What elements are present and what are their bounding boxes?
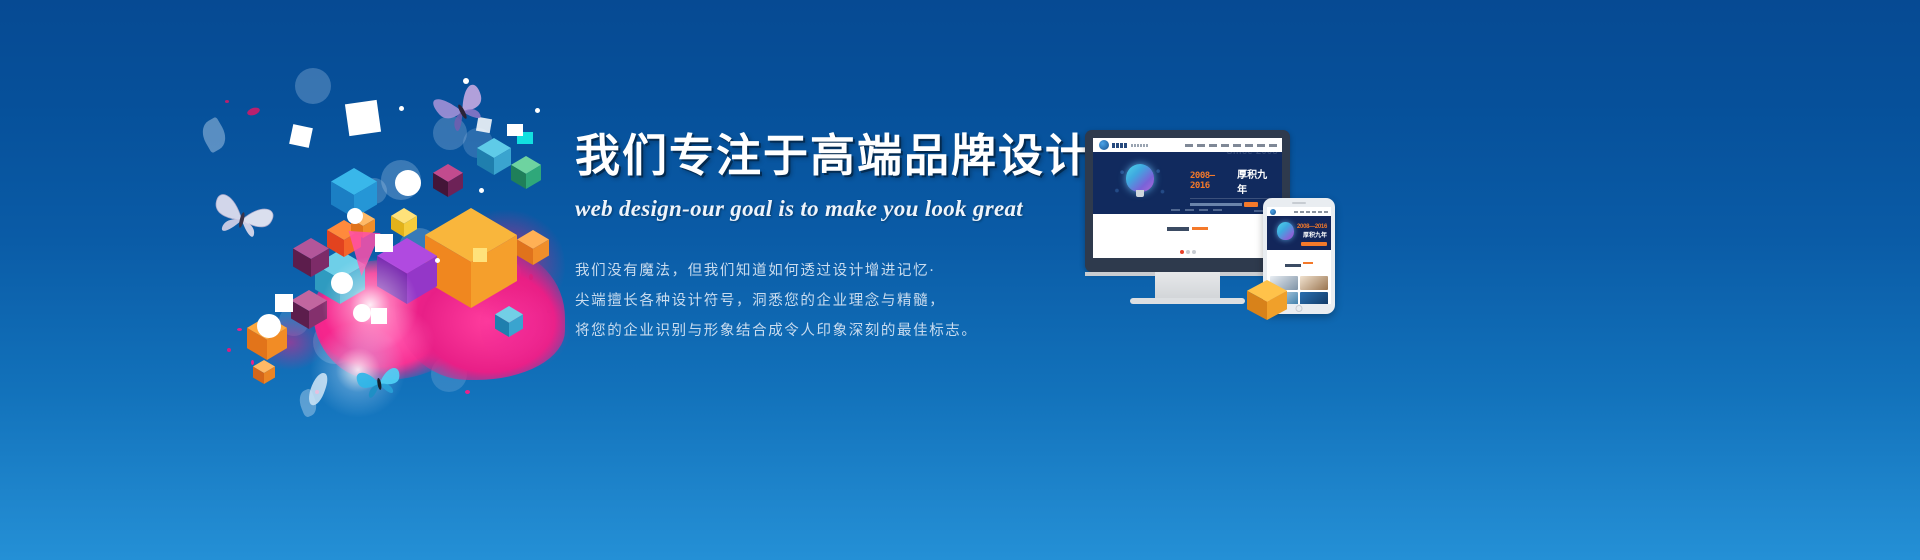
paint-speckle bbox=[227, 348, 231, 352]
section-title bbox=[1093, 214, 1282, 238]
white-circle bbox=[257, 314, 281, 338]
floating-orange-cube bbox=[1247, 280, 1287, 320]
site-logo-icon bbox=[1099, 140, 1109, 150]
phone-logo-icon bbox=[1270, 209, 1276, 215]
site-navbar bbox=[1093, 138, 1282, 152]
feather-shape bbox=[197, 117, 231, 154]
phone-navbar bbox=[1267, 207, 1331, 216]
cyan-cube bbox=[477, 138, 511, 175]
phone-hero-copy: 2008—2016 厚积九年 bbox=[1297, 224, 1327, 246]
hero-since-text: Since 2008 bbox=[1226, 152, 1278, 156]
white-square bbox=[345, 100, 381, 136]
phone-nav-items bbox=[1294, 211, 1328, 213]
white-square bbox=[289, 124, 313, 148]
monitor-stand-foot bbox=[1130, 298, 1245, 304]
paint-speckle bbox=[529, 274, 533, 280]
phone-cta-badge[interactable] bbox=[1301, 242, 1327, 246]
white-dot bbox=[479, 188, 484, 193]
hero-cta-badge[interactable] bbox=[1244, 202, 1258, 207]
hero-year-slogan: 厚积九年 bbox=[1237, 166, 1276, 196]
maroon-cube bbox=[291, 290, 327, 329]
site-logo-subtext bbox=[1131, 144, 1148, 147]
white-square bbox=[507, 124, 523, 136]
butterfly-icon bbox=[205, 188, 279, 250]
page-subtitle: web design-our goal is to make you look … bbox=[575, 196, 1095, 222]
monitor-bezel: Since 2008 2008—2016 厚积九年 bbox=[1085, 130, 1290, 272]
hero-divider bbox=[1190, 198, 1276, 199]
device-mockups: Since 2008 2008—2016 厚积九年 bbox=[1085, 130, 1365, 330]
white-dot bbox=[399, 106, 404, 111]
dark-cube bbox=[433, 164, 463, 197]
maroon-cube bbox=[293, 238, 329, 277]
white-square bbox=[371, 308, 387, 324]
hero-year-range: 2008—2016 bbox=[1190, 171, 1233, 191]
hero-year-row: 2008—2016 厚积九年 bbox=[1190, 166, 1276, 196]
abstract-cubes-splash-graphic bbox=[195, 60, 575, 440]
bokeh-circle bbox=[295, 68, 331, 104]
phone-home-button[interactable] bbox=[1296, 305, 1303, 312]
phone-thumb-item[interactable] bbox=[1300, 292, 1328, 304]
desktop-monitor-mockup: Since 2008 2008—2016 厚积九年 bbox=[1085, 130, 1290, 295]
page-title: 我们专注于高端品牌设计 bbox=[575, 128, 1095, 184]
white-square bbox=[275, 294, 293, 312]
monitor-stand-neck bbox=[1155, 272, 1220, 299]
phone-thumb-item[interactable] bbox=[1300, 276, 1328, 290]
white-circle bbox=[347, 208, 363, 224]
banner-paragraph: 我们没有魔法，但我们知道如何透过设计增进记忆· 尖端擅长各种设计符号，洞悉您的企… bbox=[575, 256, 1095, 346]
paint-speckle bbox=[237, 328, 242, 331]
paragraph-line: 将您的企业识别与形象结合成令人印象深刻的最佳标志。 bbox=[575, 316, 1095, 346]
site-nav-items bbox=[1185, 144, 1277, 147]
lightbulb-icon bbox=[1126, 164, 1154, 192]
orange-cube-small bbox=[253, 360, 275, 384]
cyan-cube bbox=[495, 306, 523, 337]
hero-slider-dots[interactable] bbox=[1171, 209, 1222, 211]
white-circle bbox=[353, 304, 371, 322]
butterfly-icon bbox=[353, 360, 405, 404]
white-square bbox=[375, 234, 393, 252]
white-circle bbox=[395, 170, 421, 196]
banner-text-block: 我们专注于高端品牌设计 web design-our goal is to ma… bbox=[575, 128, 1095, 346]
paint-speckle bbox=[547, 310, 552, 313]
phone-speaker bbox=[1292, 202, 1306, 204]
white-circle bbox=[331, 272, 353, 294]
yellow-cube bbox=[391, 208, 417, 237]
yellow-square bbox=[473, 248, 487, 262]
white-dot bbox=[535, 108, 540, 113]
phone-section-title bbox=[1267, 250, 1331, 272]
lightbulb-icon bbox=[1277, 222, 1294, 240]
paint-speckle bbox=[465, 390, 470, 394]
butterfly-icon bbox=[431, 78, 491, 140]
monitor-screen: Since 2008 2008—2016 厚积九年 bbox=[1093, 138, 1282, 258]
phone-hero: 2008—2016 厚积九年 bbox=[1267, 216, 1331, 250]
white-dot bbox=[435, 258, 440, 263]
site-logo-text bbox=[1112, 143, 1127, 148]
site-hero: Since 2008 2008—2016 厚积九年 bbox=[1093, 152, 1282, 214]
hero-banner: 我们专注于高端品牌设计 web design-our goal is to ma… bbox=[0, 0, 1920, 560]
paragraph-line: 尖端擅长各种设计符号，洞悉您的企业理念与精髓， bbox=[575, 286, 1095, 316]
green-cube bbox=[511, 156, 541, 189]
section-dots bbox=[1093, 241, 1282, 258]
paint-speckle bbox=[246, 106, 261, 117]
phone-year-slogan: 厚积九年 bbox=[1297, 230, 1327, 239]
paragraph-line: 我们没有魔法，但我们知道如何透过设计增进记忆· bbox=[575, 256, 1095, 286]
paint-speckle bbox=[225, 100, 229, 103]
orange-cube-small bbox=[517, 230, 549, 265]
